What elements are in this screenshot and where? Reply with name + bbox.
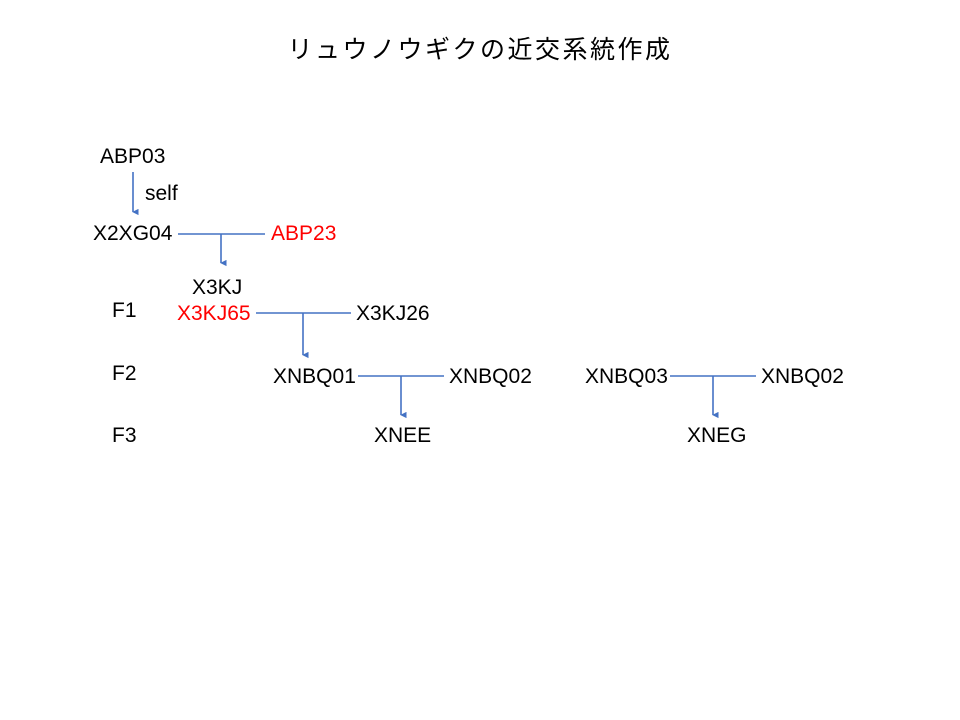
generation-label-f2: F2: [112, 361, 137, 387]
generation-label-f3: F3: [112, 423, 137, 449]
page-title: リュウノウギクの近交系統作成: [0, 33, 960, 67]
node-xnbq01[interactable]: XNBQ01: [273, 364, 356, 390]
node-x3kj65[interactable]: X3KJ65: [177, 301, 251, 327]
connector-xnbq03-xnbq02: [670, 376, 756, 415]
node-abp23[interactable]: ABP23: [271, 221, 336, 247]
node-x2xg04[interactable]: X2XG04: [93, 221, 172, 247]
node-xneg[interactable]: XNEG: [687, 423, 747, 449]
node-xnbq03[interactable]: XNBQ03: [585, 364, 668, 390]
connector-x3kj65-x3kj26: [256, 313, 351, 355]
connector-layer: [0, 0, 960, 720]
node-abp03[interactable]: ABP03: [100, 144, 165, 170]
connector-xnbq01-xnbq02: [358, 376, 444, 415]
connector-x2xg04-abp23: [178, 234, 265, 263]
node-xnee[interactable]: XNEE: [374, 423, 431, 449]
node-x3kj26[interactable]: X3KJ26: [356, 301, 430, 327]
node-xnbq02-left[interactable]: XNBQ02: [449, 364, 532, 390]
diagram-canvas: リュウノウギクの近交系統作成: [0, 0, 960, 720]
generation-label-f1: F1: [112, 298, 137, 324]
node-x3kj[interactable]: X3KJ: [192, 275, 242, 301]
self-cross-label: self: [145, 181, 178, 207]
node-xnbq02-right[interactable]: XNBQ02: [761, 364, 844, 390]
